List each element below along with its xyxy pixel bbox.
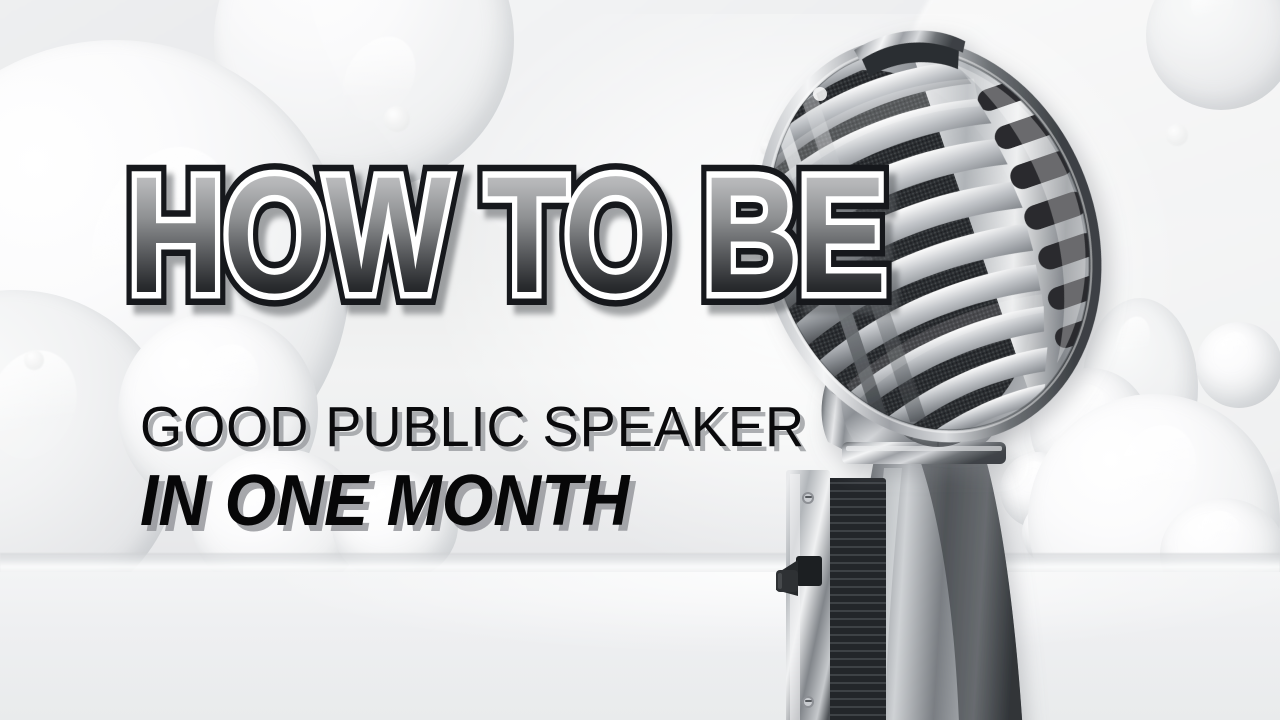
bokeh-dot — [862, 62, 874, 74]
timeframe-line: IN ONE MONTH — [140, 460, 629, 542]
headline-title: HOW TO BE HOW TO BE HOW TO BE — [128, 160, 886, 313]
thumbnail-canvas: HOW TO BE HOW TO BE HOW TO BE GOOD PUBLI… — [0, 0, 1280, 720]
bokeh-dot — [1166, 124, 1188, 146]
sphere-decoration — [1196, 322, 1280, 408]
headline-gradient-fill-layer: HOW TO BE — [128, 160, 886, 313]
title-text-group: HOW TO BE HOW TO BE HOW TO BE GOOD PUBLI… — [0, 0, 720, 720]
subtitle-line: GOOD PUBLIC SPEAKER — [140, 394, 805, 460]
